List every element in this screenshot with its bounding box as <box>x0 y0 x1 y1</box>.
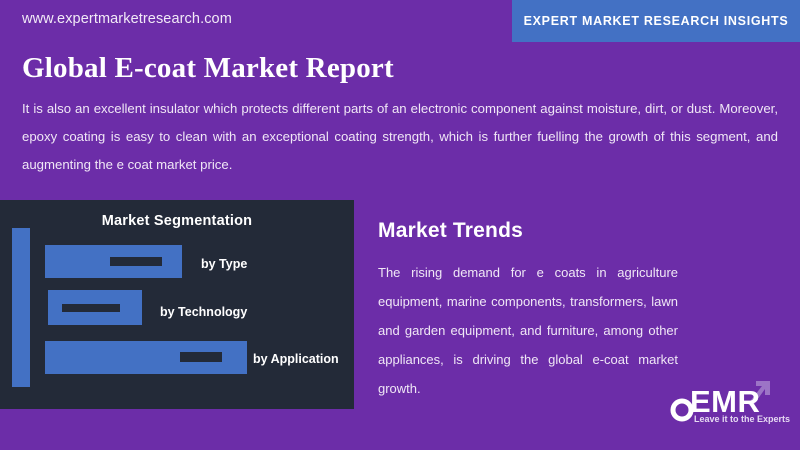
segmentation-notch-application <box>180 352 222 362</box>
segmentation-title: Market Segmentation <box>0 213 354 229</box>
insights-banner-label: EXPERT MARKET RESEARCH INSIGHTS <box>524 14 789 28</box>
insights-banner: EXPERT MARKET RESEARCH INSIGHTS <box>512 0 800 42</box>
segmentation-label-application: by Application <box>253 352 339 366</box>
logo-circle-mark <box>673 401 691 419</box>
emr-logo-graphic: EMR Leave it to the Experts! <box>670 368 790 430</box>
segmentation-label-type: by Type <box>201 257 247 271</box>
logo-tagline-text: Leave it to the Experts! <box>694 414 790 424</box>
market-trends-paragraph: The rising demand for e coats in agricul… <box>378 258 678 403</box>
site-url-text: www.expertmarketresearch.com <box>22 11 232 27</box>
intro-paragraph: It is also an excellent insulator which … <box>22 95 778 179</box>
emr-logo: EMR Leave it to the Experts! <box>670 368 790 430</box>
market-trends-heading: Market Trends <box>378 219 523 243</box>
segmentation-notch-technology <box>62 304 120 312</box>
report-infographic-page: www.expertmarketresearch.com EXPERT MARK… <box>0 0 800 450</box>
segmentation-notch-type <box>110 257 162 266</box>
page-title: Global E-coat Market Report <box>22 52 394 85</box>
segmentation-label-technology: by Technology <box>160 305 247 319</box>
header-bar: www.expertmarketresearch.com EXPERT MARK… <box>0 0 800 42</box>
segmentation-axis-bar <box>12 228 30 387</box>
